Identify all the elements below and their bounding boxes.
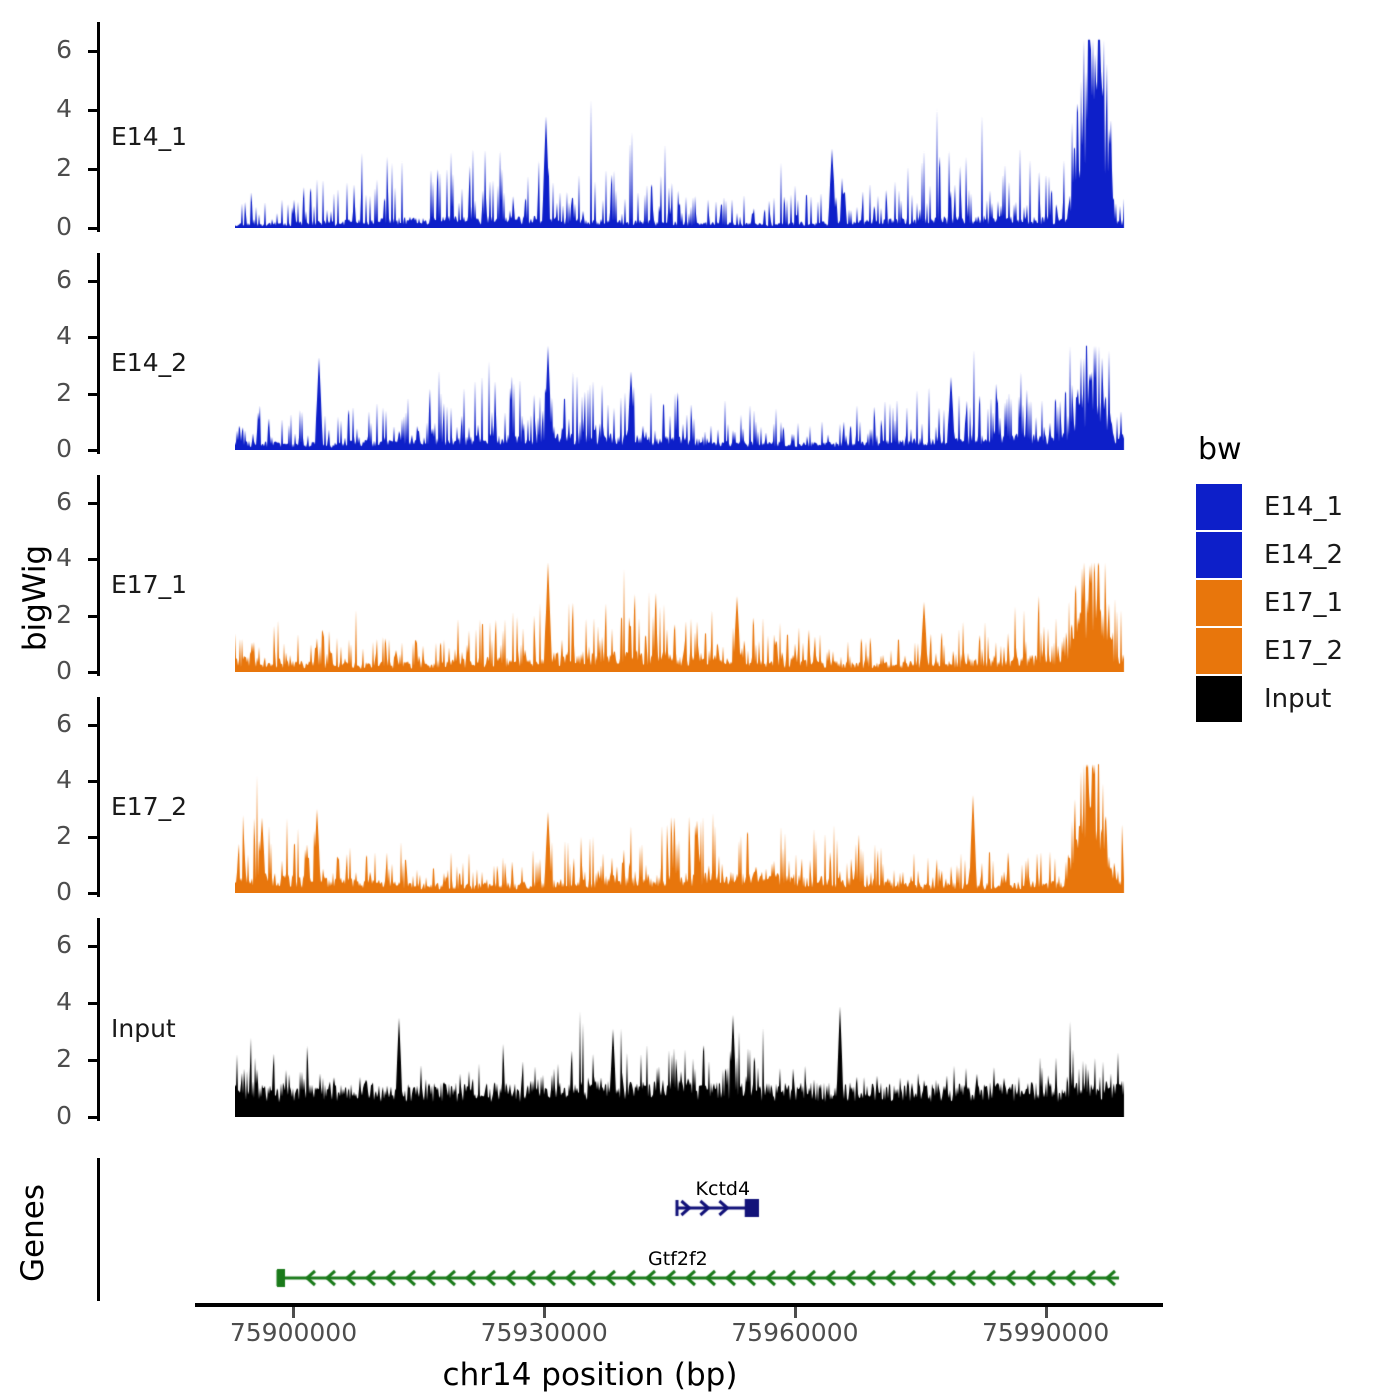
x-tick-mark bbox=[543, 1307, 546, 1318]
genome-browser-figure: bigWig Genes 0246E14_10246E14_20246E17_1… bbox=[0, 0, 1400, 1400]
y-tick-label: 2 bbox=[12, 1044, 72, 1073]
x-axis-line bbox=[195, 1303, 1163, 1307]
x-axis-title: chr14 position (bp) bbox=[0, 1357, 1180, 1393]
legend-item-e14_1[interactable]: E14_1 bbox=[1196, 483, 1396, 531]
y-tick-label: 0 bbox=[12, 1101, 72, 1130]
genes-track: Kctd4Gtf2f2 bbox=[0, 1150, 1400, 1310]
x-tick-label: 75960000 bbox=[675, 1318, 915, 1347]
legend-item-e17_1[interactable]: E17_1 bbox=[1196, 579, 1396, 627]
legend-swatch-input bbox=[1196, 676, 1242, 722]
legend-swatch-e14_2 bbox=[1196, 532, 1242, 578]
x-tick-label: 75930000 bbox=[424, 1318, 664, 1347]
legend-label: Input bbox=[1264, 684, 1331, 714]
legend-swatch-e14_1 bbox=[1196, 484, 1242, 530]
legend-swatch-e17_1 bbox=[1196, 580, 1242, 626]
legend-label: E14_1 bbox=[1264, 492, 1343, 522]
gene-gtf2f2[interactable]: Gtf2f2 bbox=[0, 1150, 1400, 1310]
legend-label: E14_2 bbox=[1264, 540, 1343, 570]
y-tick-mark bbox=[88, 1002, 97, 1005]
x-tick-mark bbox=[794, 1307, 797, 1318]
y-tick-label: 4 bbox=[12, 987, 72, 1016]
legend-label: E17_1 bbox=[1264, 588, 1343, 618]
legend-item-input[interactable]: Input bbox=[1196, 675, 1396, 723]
y-tick-mark bbox=[88, 1116, 97, 1119]
legend-item-e14_2[interactable]: E14_2 bbox=[1196, 531, 1396, 579]
legend: bw E14_1E14_2E17_1E17_2Input bbox=[1196, 432, 1396, 723]
panel-label-input: Input bbox=[111, 1014, 176, 1043]
x-tick-mark bbox=[1045, 1307, 1048, 1318]
legend-item-e17_2[interactable]: E17_2 bbox=[1196, 627, 1396, 675]
legend-title: bw bbox=[1198, 432, 1396, 467]
x-tick-label: 75990000 bbox=[926, 1318, 1166, 1347]
y-tick-label: 6 bbox=[12, 930, 72, 959]
legend-swatch-e17_2 bbox=[1196, 628, 1242, 674]
y-axis-line bbox=[97, 918, 100, 1121]
legend-label: E17_2 bbox=[1264, 636, 1343, 666]
legend-items: E14_1E14_2E17_1E17_2Input bbox=[1196, 483, 1396, 723]
coverage-signal-input bbox=[235, 918, 1125, 1117]
x-tick-mark bbox=[292, 1307, 295, 1318]
x-tick-label: 75900000 bbox=[173, 1318, 413, 1347]
y-tick-mark bbox=[88, 1059, 97, 1062]
y-tick-mark bbox=[88, 945, 97, 948]
gene-label-gtf2f2: Gtf2f2 bbox=[648, 1248, 708, 1270]
